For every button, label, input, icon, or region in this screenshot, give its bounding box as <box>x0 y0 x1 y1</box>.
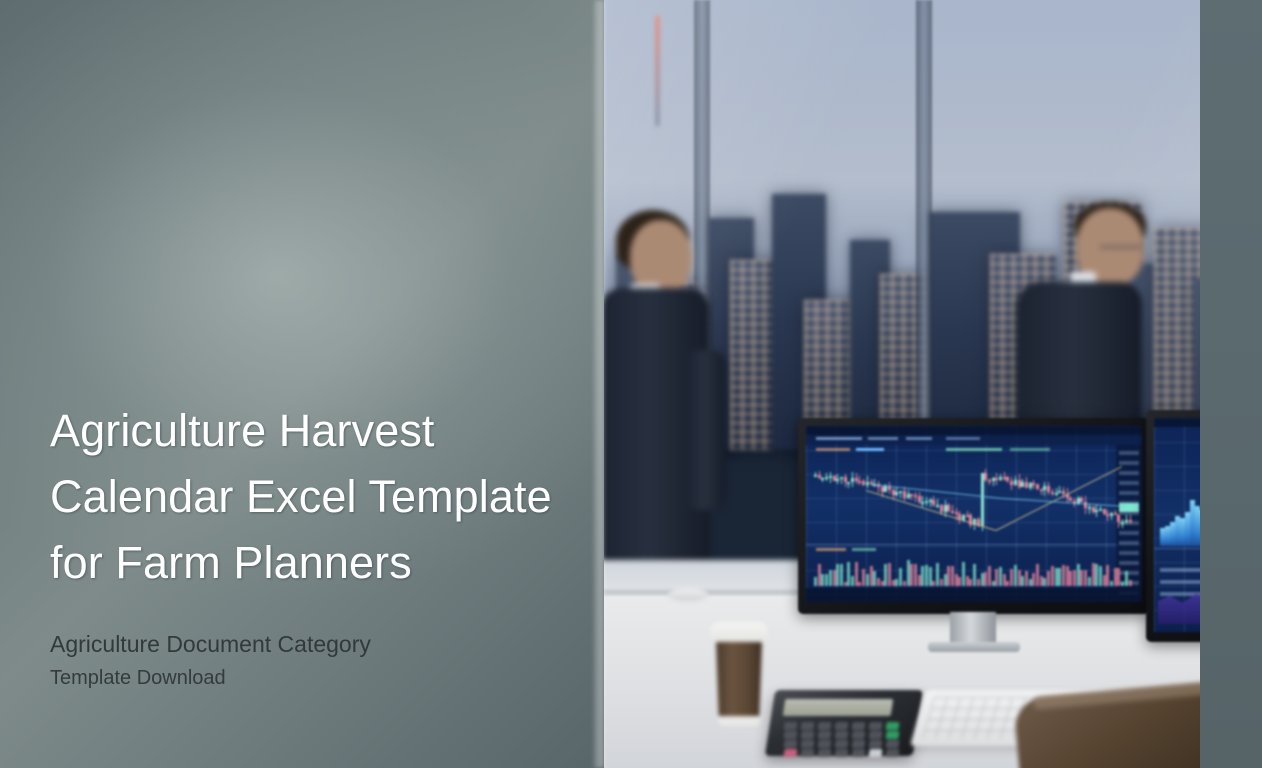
candle-body <box>995 478 998 480</box>
price-level <box>1119 471 1139 475</box>
right-color-band <box>1200 0 1262 768</box>
candle-body <box>988 480 991 482</box>
candle-wick <box>1089 504 1090 514</box>
screen-label <box>906 437 932 440</box>
candle-body <box>1095 510 1098 512</box>
volume-bar <box>969 579 972 586</box>
calculator-key <box>800 740 814 748</box>
candle-body <box>1069 498 1072 501</box>
calculator-key <box>800 722 814 730</box>
candle-body <box>1043 486 1046 490</box>
volume-bar <box>829 570 832 586</box>
volume-bar <box>929 567 932 586</box>
volume-bar <box>851 576 854 586</box>
volume-bar <box>958 577 961 586</box>
volume-bar <box>1055 568 1058 586</box>
candle-body <box>999 477 1002 480</box>
calculator-key <box>817 740 831 748</box>
candle-body <box>925 501 928 503</box>
volume-bar <box>1117 568 1120 586</box>
volume-bar <box>1110 581 1113 586</box>
candle-body <box>1114 513 1117 515</box>
volume-bar <box>981 573 984 586</box>
calculator-key <box>885 740 899 748</box>
candle-body <box>1014 480 1017 485</box>
volume-bar <box>1095 564 1098 586</box>
head <box>630 220 692 294</box>
volume-bar <box>881 581 884 586</box>
volume-bar <box>840 564 843 586</box>
candle-body <box>940 505 943 512</box>
second-monitor <box>1146 410 1202 642</box>
candle-body <box>914 495 917 497</box>
volume-bar <box>870 566 873 586</box>
volume-bar <box>818 564 821 586</box>
candle-body <box>892 490 895 495</box>
volume-bar <box>877 578 880 586</box>
candle-body <box>1092 507 1095 513</box>
volume-bar <box>1025 571 1028 586</box>
volume-bar <box>1043 578 1046 586</box>
volume-bar <box>1066 566 1069 586</box>
candle-body <box>1125 520 1128 522</box>
price-level <box>1119 481 1139 485</box>
candle-body <box>1106 514 1109 516</box>
arm <box>686 350 726 510</box>
candle-body <box>821 478 824 480</box>
volume-bar <box>892 580 895 586</box>
candle-body <box>1018 480 1021 486</box>
candle-body <box>929 500 932 502</box>
volume-bar <box>1092 563 1095 586</box>
calculator-key <box>851 740 865 748</box>
volume-bar <box>951 566 954 586</box>
volume-bar <box>1129 580 1132 586</box>
price-level <box>1119 451 1139 455</box>
candle-body <box>947 505 950 511</box>
page-title: Agriculture Harvest Calendar Excel Templ… <box>50 398 570 596</box>
calculator-key <box>885 749 899 757</box>
volume-bar <box>940 579 943 586</box>
background-photo <box>598 0 1202 768</box>
volume-bar <box>1018 570 1021 586</box>
calculator-key <box>868 740 882 748</box>
screen-label <box>816 437 862 440</box>
candle-body <box>1029 483 1032 488</box>
candle-body <box>1121 522 1124 524</box>
cup-lid <box>710 622 768 644</box>
candle-body <box>1080 498 1083 501</box>
presentation-slide: Agriculture Harvest Calendar Excel Templ… <box>0 0 1262 768</box>
candle-body <box>855 478 858 481</box>
screen-label <box>816 548 846 551</box>
glasses <box>1100 246 1142 248</box>
volume-bar <box>910 564 913 586</box>
price-level <box>1119 531 1139 535</box>
screen-statusbar <box>806 588 1142 602</box>
calculator-key <box>851 722 865 730</box>
volume-bar <box>833 570 836 586</box>
businessman-walking <box>598 200 794 620</box>
calculator-display <box>783 699 894 716</box>
candle-body <box>814 475 817 477</box>
candle-body <box>1099 509 1102 511</box>
screen-label <box>852 548 876 551</box>
candle-body <box>1088 507 1091 509</box>
candle-body <box>1021 482 1024 486</box>
candle-body <box>1110 513 1113 516</box>
monitor-screen <box>806 426 1142 602</box>
calculator-key <box>800 749 814 757</box>
calculator-key <box>817 731 831 739</box>
volume-bar <box>1010 569 1013 586</box>
candle-body <box>833 476 836 481</box>
candle-body <box>944 505 947 512</box>
volume-bar <box>1106 565 1109 587</box>
screen-label <box>1010 448 1050 451</box>
candle-body <box>932 500 935 505</box>
text-block: Agriculture Harvest Calendar Excel Templ… <box>50 398 570 693</box>
volume-bar <box>977 579 980 586</box>
volume-bar <box>1084 570 1087 586</box>
price-level <box>1119 561 1139 565</box>
screen-label <box>868 437 898 440</box>
volume-bar <box>1077 564 1080 586</box>
volume-bar <box>999 567 1002 586</box>
volume-bar <box>992 581 995 586</box>
candle-body <box>840 477 843 479</box>
candle-body <box>1058 491 1061 493</box>
candle-body <box>936 505 939 507</box>
volume-bar <box>1006 581 1009 586</box>
title-line-1: Agriculture Harvest <box>50 405 435 456</box>
volume-bar <box>947 566 950 586</box>
screen-label <box>1160 580 1202 584</box>
volume-bar <box>899 568 902 586</box>
candle-body <box>825 477 828 479</box>
candle-body <box>1047 486 1050 491</box>
screen-toolbar <box>806 426 1142 435</box>
volume-bar <box>895 579 898 586</box>
candle-body <box>1117 515 1120 522</box>
candle-body <box>836 479 839 481</box>
title-line-3: for Farm Planners <box>50 537 412 588</box>
calculator-key <box>885 722 899 730</box>
volume-bar <box>1032 573 1035 586</box>
volume-bar <box>866 574 869 586</box>
title-line-2: Calendar Excel Template <box>50 471 552 522</box>
volume-bar <box>1029 579 1032 586</box>
screen-label <box>816 448 850 451</box>
volume-bar <box>844 582 847 586</box>
volume-bar <box>914 564 917 586</box>
price-level <box>1119 551 1139 555</box>
candle-body <box>1003 477 1006 479</box>
panel-divider <box>806 544 1142 545</box>
volume-bar <box>955 574 958 587</box>
calculator-key <box>834 731 848 739</box>
volume-bar <box>1069 571 1072 586</box>
subtitle-secondary: Template Download <box>50 663 570 693</box>
candle-body <box>866 482 869 485</box>
candle-body <box>1103 509 1106 514</box>
price-level <box>1119 461 1139 465</box>
volume-bar <box>944 574 947 586</box>
candle-body <box>1010 481 1013 485</box>
calculator-key <box>783 722 797 730</box>
volume-bar <box>821 574 824 586</box>
monitor-stand-neck <box>950 612 996 646</box>
candle-body <box>992 478 995 481</box>
candle-body <box>1040 489 1043 491</box>
volume-bar <box>825 574 828 586</box>
volume-bar <box>847 562 850 586</box>
volume-bar <box>858 582 861 586</box>
volume-bar <box>1062 565 1065 586</box>
volume-bar <box>1121 582 1124 586</box>
volume-bar <box>932 581 935 586</box>
volume-bar <box>988 566 991 586</box>
calculator-key <box>885 731 899 739</box>
volume-bar <box>814 577 817 586</box>
cup-base <box>718 716 760 726</box>
candle-body <box>966 515 969 517</box>
candle-body <box>1129 520 1132 522</box>
price-level <box>1119 541 1139 545</box>
volume-bar <box>873 571 876 586</box>
subtitle: Agriculture Document Category <box>50 626 570 662</box>
screen-label <box>946 448 1002 451</box>
screen-label <box>946 437 980 440</box>
calculator-key <box>834 740 848 748</box>
volume-bar <box>995 569 998 586</box>
candle-body <box>955 512 958 514</box>
candle-body <box>844 477 847 482</box>
volume-bar <box>1080 570 1083 586</box>
volume-bar <box>903 581 906 586</box>
candle-body <box>818 475 821 478</box>
calculator-key <box>851 731 865 739</box>
price-level <box>1119 491 1139 495</box>
calculator-key <box>817 722 831 730</box>
candle-body <box>918 496 921 502</box>
calculator-key <box>834 749 848 757</box>
candle-body <box>851 478 854 482</box>
volume-bar <box>862 569 865 586</box>
calculator-key <box>783 740 797 748</box>
volume-bar <box>1047 571 1050 586</box>
volume-bar <box>962 562 965 586</box>
volume-bar <box>1125 571 1128 586</box>
calculator-key <box>783 749 797 757</box>
candle-body <box>903 491 906 497</box>
candle-body <box>1032 483 1035 485</box>
candle-body <box>881 487 884 492</box>
secondary-wave-chart <box>1158 580 1202 624</box>
volume-bar <box>1036 564 1039 586</box>
candle-body <box>907 494 910 497</box>
price-badge <box>1119 503 1139 512</box>
area-chart <box>1154 418 1202 632</box>
volume-bar <box>1014 565 1017 586</box>
screen-label <box>856 448 884 451</box>
calculator-key <box>851 749 865 757</box>
volume-bar <box>888 563 891 586</box>
volume-bar <box>984 572 987 586</box>
panel-edge-highlight <box>594 0 604 768</box>
desktop-monitor <box>798 418 1150 614</box>
calculator-key <box>817 749 831 757</box>
volume-bar <box>907 560 910 586</box>
volume-bar <box>925 565 928 586</box>
candle-body <box>1051 492 1054 494</box>
volume-bar <box>1040 576 1043 586</box>
candle-body <box>921 502 924 504</box>
volume-bar <box>1099 566 1102 586</box>
coffee-cup <box>710 622 768 730</box>
candle-body <box>847 482 850 484</box>
calculator-key <box>868 722 882 730</box>
volume-bar <box>1114 568 1117 586</box>
screen-label <box>1160 568 1202 572</box>
price-level <box>1119 571 1139 575</box>
candle-body <box>899 491 902 493</box>
candle-body <box>895 492 898 494</box>
candle-body <box>884 486 887 492</box>
candle-body <box>1036 484 1039 489</box>
candle-body <box>1055 493 1058 495</box>
candle-body <box>858 481 861 483</box>
cup-sleeve <box>715 642 763 720</box>
volume-bar <box>918 575 921 586</box>
calculator-key <box>834 722 848 730</box>
calculator-key <box>868 731 882 739</box>
candle-body <box>862 481 865 485</box>
volume-bar <box>1073 570 1076 586</box>
volume-bar <box>1103 575 1106 586</box>
volume-bar <box>973 564 976 586</box>
monitor-stand-foot <box>928 642 1020 652</box>
candle-body <box>981 473 984 526</box>
volume-bar <box>836 564 839 586</box>
volume-bar <box>884 564 887 586</box>
calculator-key <box>800 731 814 739</box>
candle-body <box>1006 477 1009 481</box>
calculator-key <box>868 749 882 757</box>
volume-bar <box>855 562 858 586</box>
volume-bar <box>1058 568 1061 586</box>
mouse <box>668 588 708 601</box>
monitor-screen <box>1154 418 1202 632</box>
calculator-key <box>783 731 797 739</box>
volume-bar <box>1088 577 1091 586</box>
volume-bar <box>966 576 969 586</box>
candle-body <box>984 473 987 479</box>
candle-body <box>951 511 954 513</box>
volume-bar <box>1021 576 1024 586</box>
volume-bar <box>1003 574 1006 586</box>
volume-bar <box>921 566 924 586</box>
candle-body <box>910 494 913 496</box>
candle-body <box>829 476 832 478</box>
candle-body <box>1025 482 1028 488</box>
calculator <box>770 690 918 756</box>
volume-bar <box>936 563 939 586</box>
volume-bar <box>1051 566 1054 586</box>
